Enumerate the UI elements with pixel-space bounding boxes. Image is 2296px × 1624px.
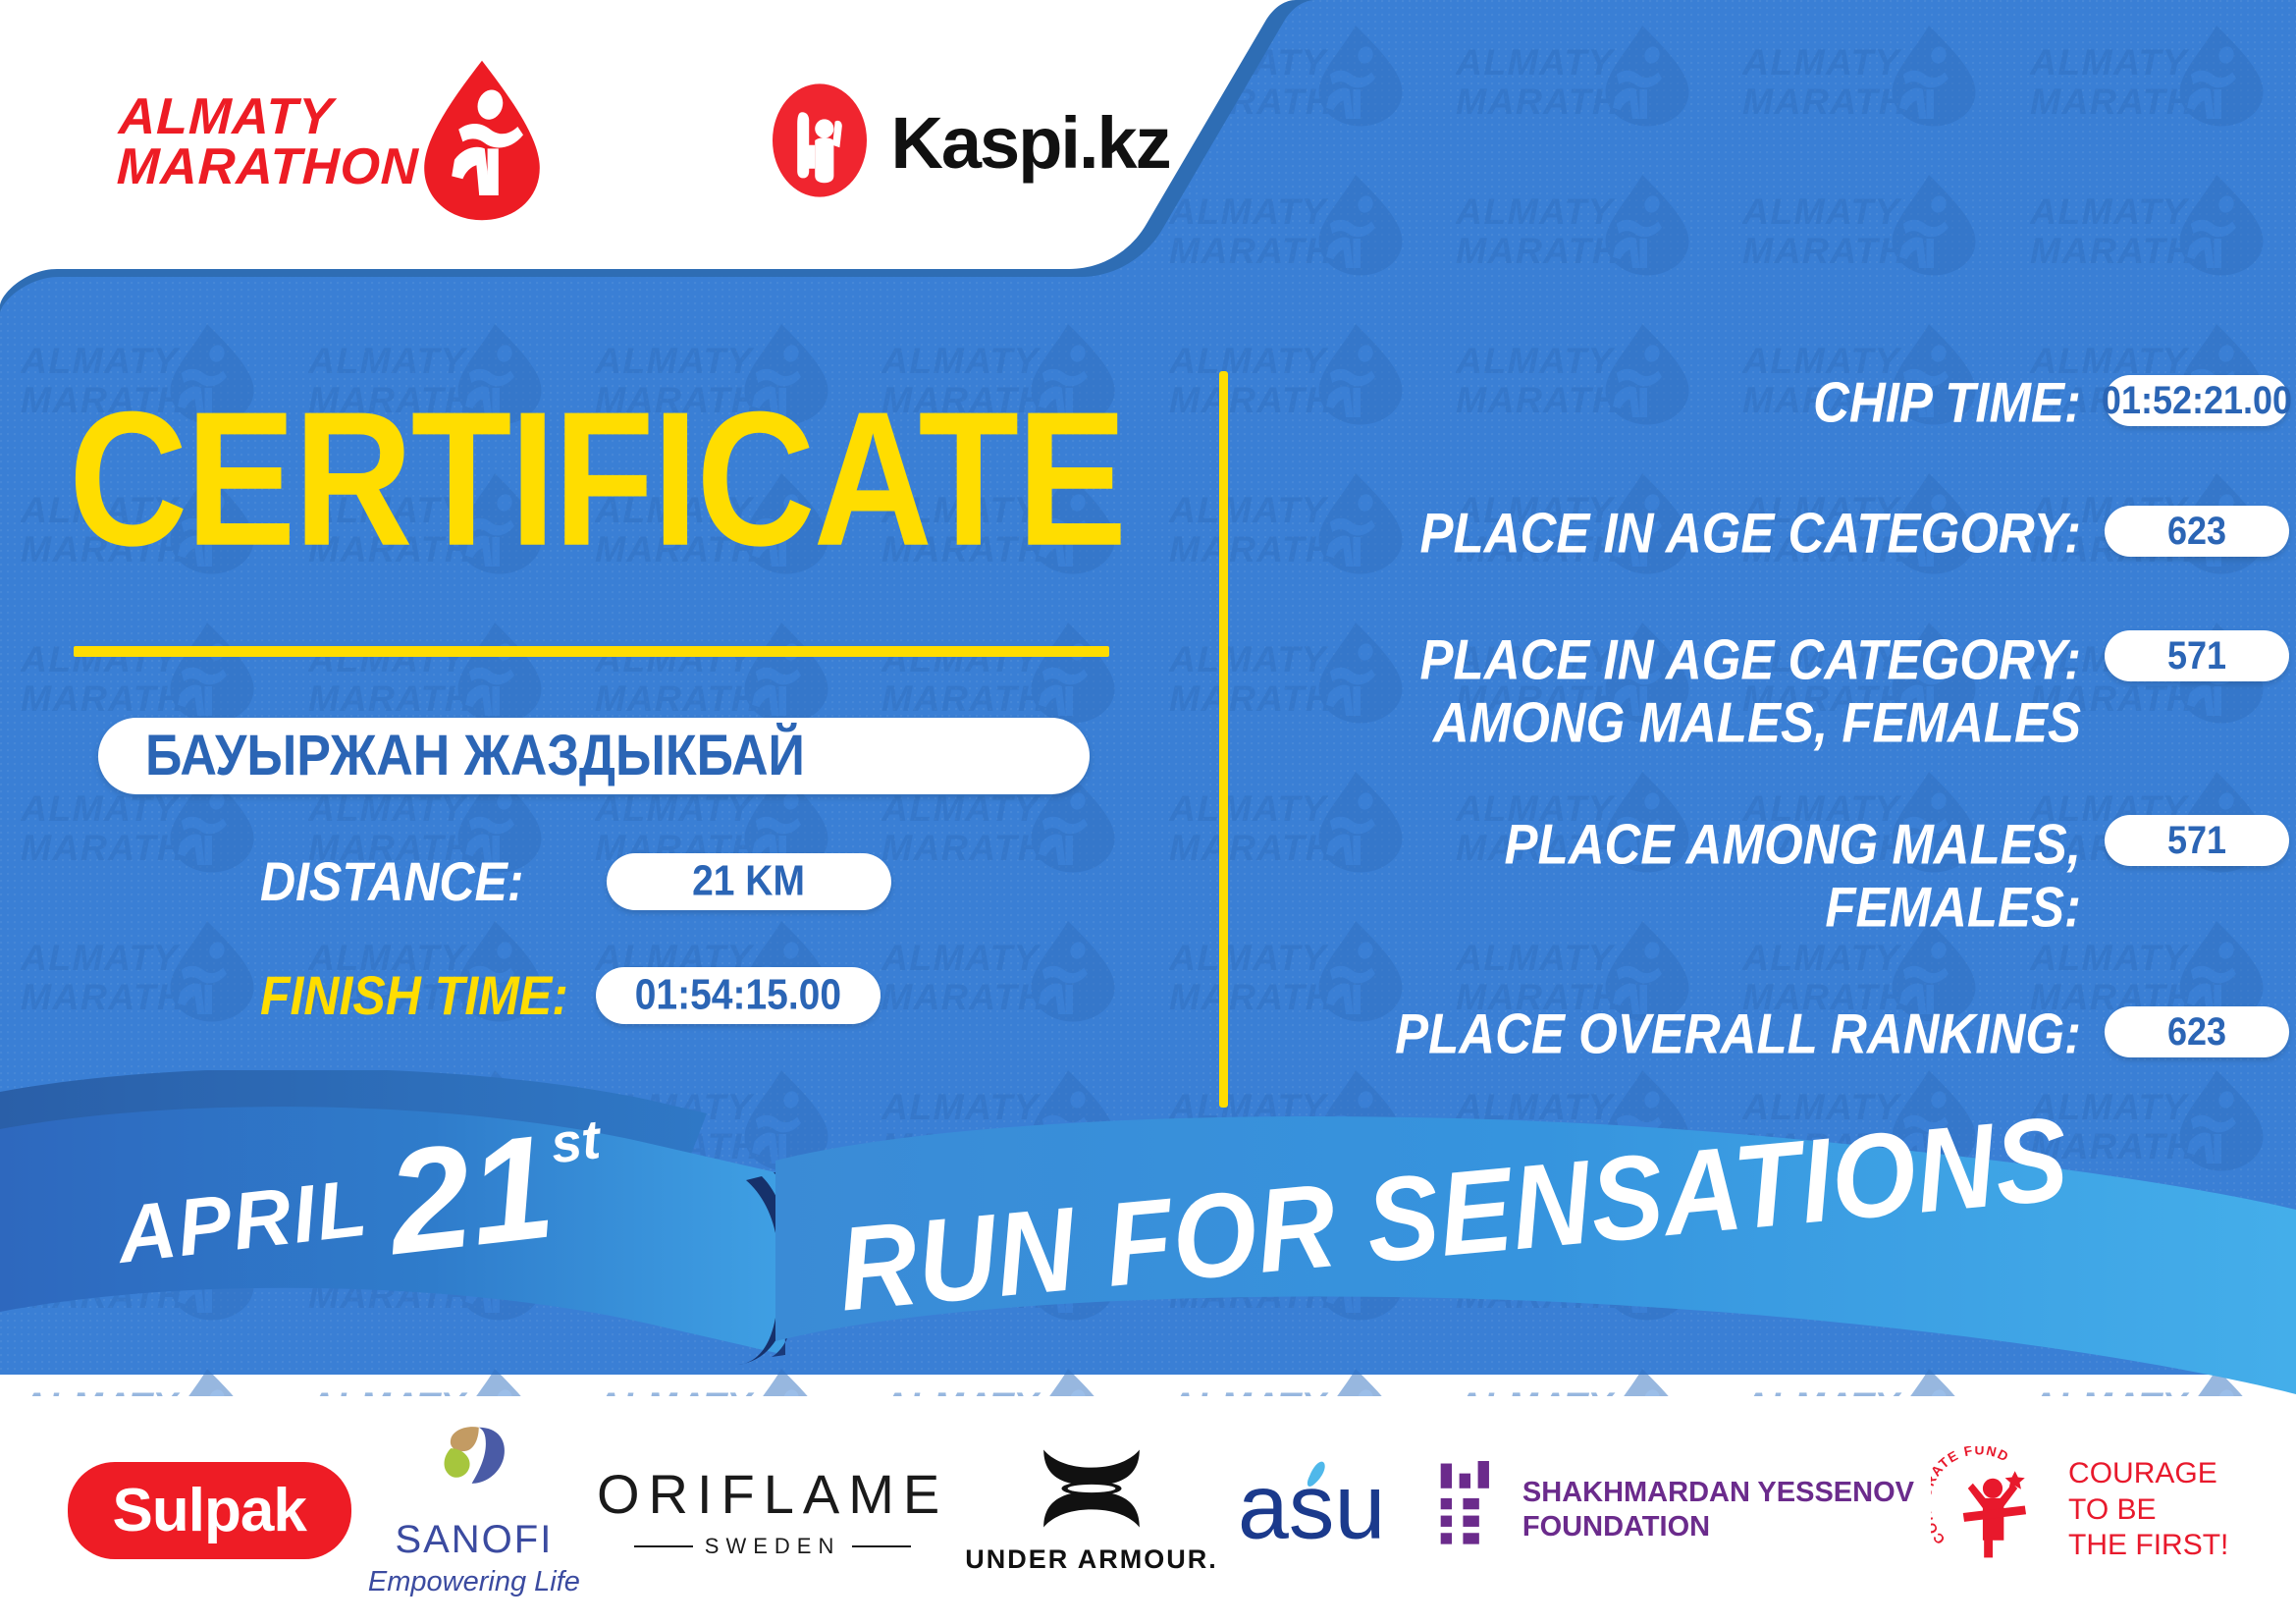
participant-name-field: БАУЫРЖАН ЖАЗДЫКБАЙ [98,718,1090,794]
stat-row: PLACE OVERALL RANKING: 623 [1219,1002,2289,1058]
under-armour-icon [1032,1445,1151,1537]
stat-value: 623 [2167,1009,2226,1055]
header-logos: ALMATY MARATHON [0,0,1276,285]
stat-value-pill: 571 [2105,630,2289,681]
oriflame-rule-left [634,1545,693,1547]
sanofi-wordmark: SANOFI [395,1518,553,1562]
sponsor-under-armour: UNDER ARMOUR. [965,1445,1218,1575]
event-day: 21 [382,1122,559,1267]
courage-figure-icon: CORPORATE FUND [1931,1446,2055,1575]
stat-value-pill: 623 [2105,1006,2289,1057]
sponsor-bar: Sulpak SANOFI Empowering Life ORIFLAME S… [0,1396,2296,1624]
yessenov-wordmark: SHAKHMARDAN YESSENOV FOUNDATION [1522,1476,1914,1545]
finish-time-label: FINISH TIME: [260,964,568,1028]
distance-value: 21 KM [692,857,805,905]
sponsor-sulpak: Sulpak [68,1462,351,1559]
certificate-left-column: CERTIFICATE БАУЫРЖАН ЖАЗДЫКБАЙ DISTANCE:… [0,324,1207,1024]
stat-value-pill: 571 [2105,815,2289,866]
stat-row: PLACE IN AGE CATEGORY: AMONG MALES, FEMA… [1219,628,2289,740]
stat-label: PLACE OVERALL RANKING: [1219,1002,2105,1065]
stat-value-pill: 01:52:21.00 [2105,375,2289,426]
stat-label: PLACE IN AGE CATEGORY: AMONG MALES, FEMA… [1219,628,2105,754]
almaty-marathon-line1: ALMATY [118,92,421,142]
event-month: APRIL [113,1163,373,1282]
asu-wordmark-icon: asu [1235,1456,1421,1565]
almaty-marathon-logo: ALMATY MARATHON [118,57,551,229]
finish-time-value-pill: 01:54:15.00 [596,967,881,1024]
stat-value: 623 [2167,509,2226,554]
sponsor-yessenov-foundation: SHAKHMARDAN YESSENOV FOUNDATION [1438,1461,1914,1560]
certificate-canvas: ALMATY MARATHON ALMATY MARATHON [0,0,2296,1624]
certificate-stats-column: CHIP TIME: 01:52:21.00 PLACE IN AGE CATE… [1219,371,2289,1058]
svg-text:asu: asu [1238,1456,1386,1557]
stat-label: PLACE AMONG MALES, FEMALES: [1219,813,2105,939]
stat-value: 571 [2167,818,2226,863]
distance-row: DISTANCE: 21 KM [260,853,1207,910]
sponsor-courage-to-be-first: CORPORATE FUND COURAGE TO BE THE FIRST! [1931,1446,2228,1575]
almaty-marathon-line2: MARATHON [116,142,419,192]
under-armour-wordmark: UNDER ARMOUR. [965,1544,1218,1575]
finish-time-row: FINISH TIME: 01:54:15.00 [260,967,1207,1024]
oriflame-sub: SWEDEN [597,1534,948,1559]
stat-row: PLACE AMONG MALES, FEMALES: 571 [1219,813,2289,925]
kaspi-person-icon [767,81,873,204]
stat-label: CHIP TIME: [1219,371,2105,434]
stat-value: 01:52:21.00 [2102,378,2292,423]
stat-label: PLACE IN AGE CATEGORY: [1219,502,2105,565]
stat-value: 571 [2167,633,2226,678]
oriflame-wordmark: ORIFLAME [597,1462,948,1526]
stat-row: PLACE IN AGE CATEGORY: 623 [1219,502,2289,558]
sponsor-oriflame: ORIFLAME SWEDEN [597,1462,948,1559]
sponsor-asu: asu [1235,1456,1421,1565]
distance-value-pill: 21 KM [607,853,891,910]
title-underline [74,646,1109,657]
stat-value-pill: 623 [2105,506,2289,557]
oriflame-sweden: SWEDEN [705,1534,841,1559]
oriflame-rule-right [852,1545,911,1547]
finish-time-value: 01:54:15.00 [635,971,841,1019]
participant-name: БАУЫРЖАН ЖАЗДЫКБАЙ [145,723,805,789]
sanofi-tagline: Empowering Life [368,1566,580,1598]
runner-drop-icon [413,57,551,229]
event-day-suffix: st [548,1107,604,1175]
almaty-marathon-wordmark: ALMATY MARATHON [116,92,421,192]
certificate-title: CERTIFICATE [69,383,1207,574]
sponsor-sanofi: SANOFI Empowering Life [368,1423,580,1598]
kaspi-wordmark: Kaspi.kz [890,101,1169,185]
kaspi-logo: Kaspi.kz [767,81,1169,204]
yessenov-bars-icon [1438,1461,1503,1560]
sulpak-wordmark: Sulpak [113,1476,306,1545]
sanofi-icon [427,1423,521,1514]
distance-label: DISTANCE: [260,850,524,914]
stat-row: CHIP TIME: 01:52:21.00 [1219,371,2289,427]
courage-wordmark: COURAGE TO BE THE FIRST! [2068,1456,2228,1564]
